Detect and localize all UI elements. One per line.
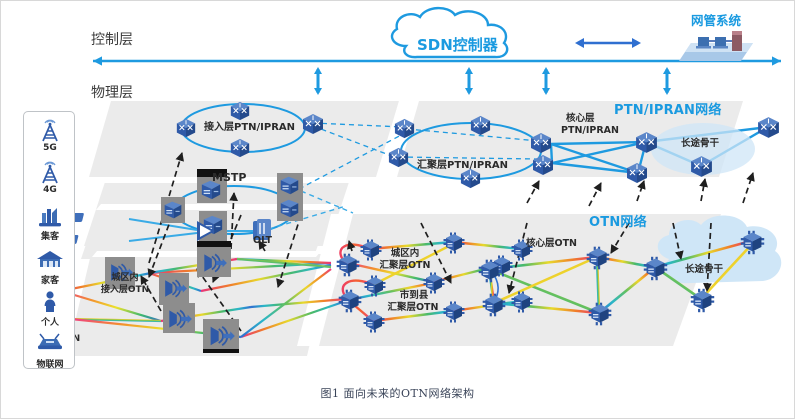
enterprise-building-icon: [24, 204, 76, 230]
ptn-agg-node: [533, 155, 553, 175]
ptn-agg-node: [471, 116, 490, 135]
ptn-core-label-line1: 核心层: [566, 114, 595, 125]
ptn-agg-node: [395, 119, 414, 138]
otn-agg-node: [512, 292, 533, 313]
otn-core-node: [483, 294, 506, 317]
access-type-legend: 5G 4G: [23, 111, 75, 369]
otn-urban-agg-label-1: 城区内: [369, 249, 441, 260]
ptn-agg-node: [531, 133, 551, 153]
otn-backbone-node: [691, 289, 714, 312]
legend-label-home: 家客: [24, 273, 76, 286]
legend-label-4g: 4G: [24, 185, 76, 195]
legend-label-enterprise: 集客: [24, 229, 76, 242]
ptn-core-label-line2: PTN/IPRAN: [561, 126, 619, 137]
ptn-core-node: [691, 156, 712, 177]
otn-core-node: [589, 303, 612, 326]
5g-tower-icon: [24, 118, 76, 144]
ptn-access-node: [177, 119, 195, 137]
ptn-access-node: [303, 114, 323, 134]
ptn-access-node: [231, 139, 249, 157]
ptn-backbone-label: 长途骨干: [681, 139, 719, 150]
olt-label: OLT: [253, 236, 272, 247]
ptn-access-node: [231, 102, 249, 120]
ptn-core-node: [627, 163, 647, 183]
iot-gateway-icon: [24, 332, 76, 358]
otn-urban-agg-label-2: 汇聚层OTN: [359, 261, 451, 272]
ptn-agg-ring-label: 汇聚层PTN/IPRAN: [417, 160, 508, 172]
ptn-network-title: PTN/IPRAN网络: [614, 104, 722, 119]
otn-backbone-node: [741, 231, 764, 254]
ptn-agg-node: [389, 148, 408, 167]
legend-item-individual[interactable]: 个人: [24, 290, 76, 328]
otn-network-title: OTN网络: [589, 216, 647, 231]
otn-backbone-label: 长途骨干: [685, 265, 723, 276]
figure-canvas: 控制层 物理层 SDN控制器 网管系统 接入层PTN/IPRAN MSTP 汇聚…: [0, 0, 795, 419]
legend-label-individual: 个人: [24, 315, 76, 328]
otn-agg-node: [339, 290, 362, 313]
otn-city-county-agg-label-1: 市到县: [378, 291, 450, 302]
otn-city-county-agg-label-2: 汇聚层OTN: [367, 303, 459, 314]
control-layer-label: 控制层: [91, 32, 133, 48]
legend-item-home[interactable]: 家客: [24, 248, 76, 286]
legend-item-5g[interactable]: 5G: [24, 118, 76, 153]
otn-backbone-node: [644, 257, 667, 280]
home-icon: [24, 248, 76, 274]
otn-agg-node: [337, 254, 360, 277]
legend-item-enterprise[interactable]: 集客: [24, 204, 76, 242]
ptn-backbone-node: [758, 117, 779, 138]
nms-label: 网管系统: [691, 14, 741, 28]
legend-label-iot: 物联网: [24, 357, 76, 370]
otn-core-label: 核心层OTN: [526, 239, 577, 250]
otn-core-node: [587, 247, 610, 270]
legend-item-iot[interactable]: 物联网: [24, 332, 76, 370]
legend-item-4g[interactable]: 4G: [24, 160, 76, 195]
mstp-label: MSTP: [212, 172, 246, 185]
otn-urban-access-label-2: 接入层OTN: [89, 285, 161, 295]
legend-label-5g: 5G: [24, 143, 76, 153]
sdn-controller-label: SDN控制器: [417, 37, 498, 54]
node-icon-layer: [1, 1, 795, 419]
person-icon: [24, 290, 76, 316]
otn-agg-node: [364, 312, 385, 333]
otn-agg-node: [444, 233, 465, 254]
physical-layer-label: 物理层: [91, 85, 133, 101]
ptn-access-ring-label: 接入层PTN/IPRAN: [204, 122, 295, 134]
otn-urban-access-label-1: 城区内: [96, 273, 154, 283]
ptn-core-node: [636, 132, 657, 153]
figure-caption: 图1 面向未来的OTN网络架构: [1, 385, 794, 401]
4g-tower-icon: [24, 160, 76, 186]
ptn-agg-node: [461, 169, 480, 188]
